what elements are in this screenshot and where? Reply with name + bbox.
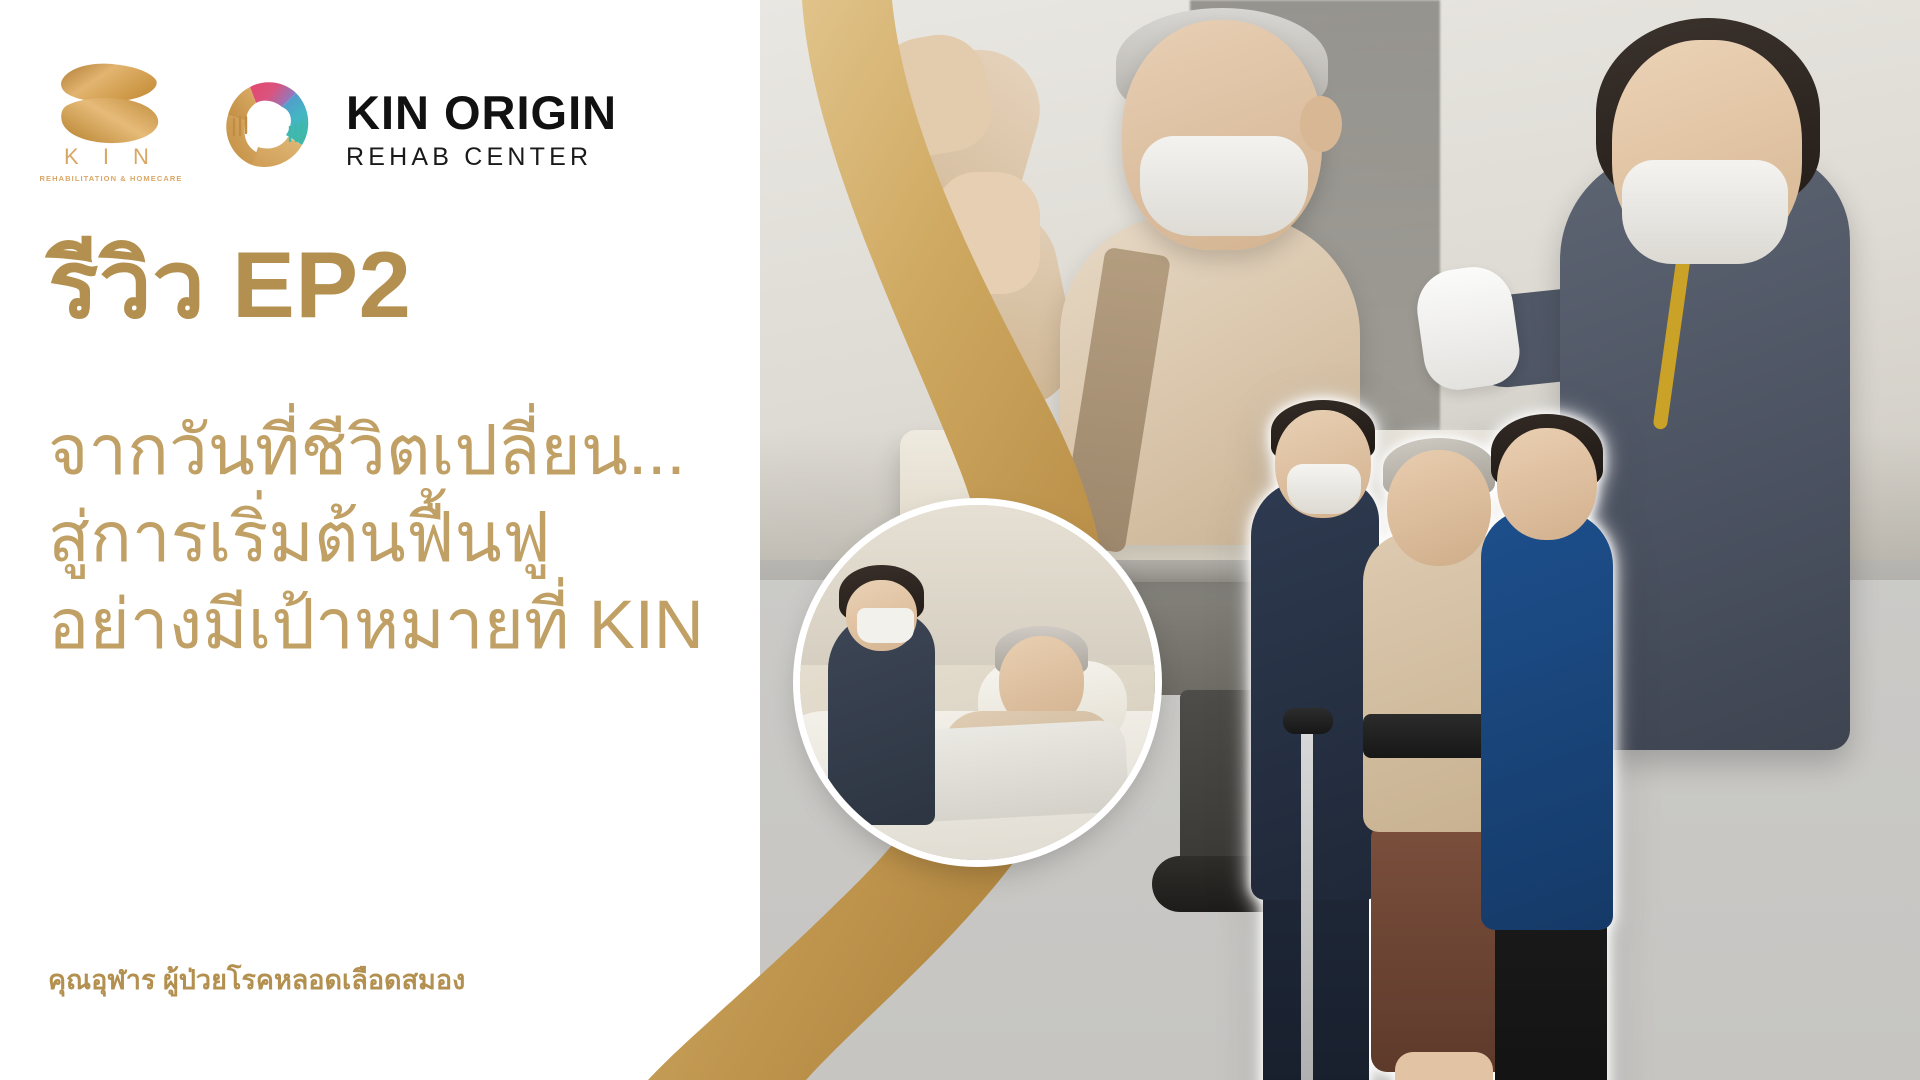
cutout-caregiver-left-face-mask — [1287, 464, 1361, 514]
origin-subtitle: REHAB CENTER — [346, 145, 617, 170]
circle-inset-photo — [800, 505, 1155, 860]
cutout-patient-foot — [1395, 1052, 1493, 1080]
subheading-line-1: จากวันที่ชีวิตเปลี่ยน... — [48, 408, 704, 495]
patient-ear — [1300, 96, 1342, 152]
kin-mark-letters: K I N — [50, 144, 172, 170]
subheading-block: จากวันที่ชีวิตเปลี่ยน... สู่การเริ่มต้นฟ… — [48, 408, 704, 669]
walking-cane-grip — [1283, 708, 1333, 734]
subheading-line-2: สู่การเริ่มต้นฟื้นฟู — [48, 495, 704, 582]
origin-hands-circle-icon — [212, 73, 324, 185]
cutout-caregiver-right-body — [1481, 510, 1613, 930]
logo-row: K I N REHABILITATION & HOMECARE — [50, 58, 617, 200]
patient-face-mask — [1140, 136, 1308, 236]
origin-text-block: KIN ORIGIN REHAB CENTER — [346, 89, 617, 170]
inset-blanket — [904, 719, 1129, 823]
subheading-line-3: อย่างมีเป้าหมายที่ KIN — [48, 582, 704, 669]
cutout-patient-head — [1387, 450, 1491, 566]
page-title: รีวิว EP2 — [48, 238, 411, 332]
therapist-face-mask — [1622, 160, 1788, 264]
kin-brand-mark: K I N REHABILITATION & HOMECARE — [50, 58, 172, 200]
kin-brushstroke-icon — [50, 58, 172, 150]
cutout-group-photo — [1245, 392, 1620, 1080]
cutout-caregiver-right-head — [1497, 428, 1597, 540]
promo-banner: K I N REHABILITATION & HOMECARE — [0, 0, 1920, 1080]
walking-cane — [1301, 722, 1313, 1080]
patient-caption: คุณอุฬาร ผู้ป่วยโรคหลอดเลือดสมอง — [48, 958, 465, 1001]
cutout-caregiver-left-body — [1251, 480, 1379, 900]
kin-origin-lockup: KIN ORIGIN REHAB CENTER — [212, 73, 617, 185]
patient-right-hand — [936, 172, 1040, 294]
inset-nurse-face-mask — [857, 608, 914, 644]
kin-mark-tagline: REHABILITATION & HOMECARE — [36, 174, 186, 183]
origin-title: KIN ORIGIN — [346, 89, 617, 136]
